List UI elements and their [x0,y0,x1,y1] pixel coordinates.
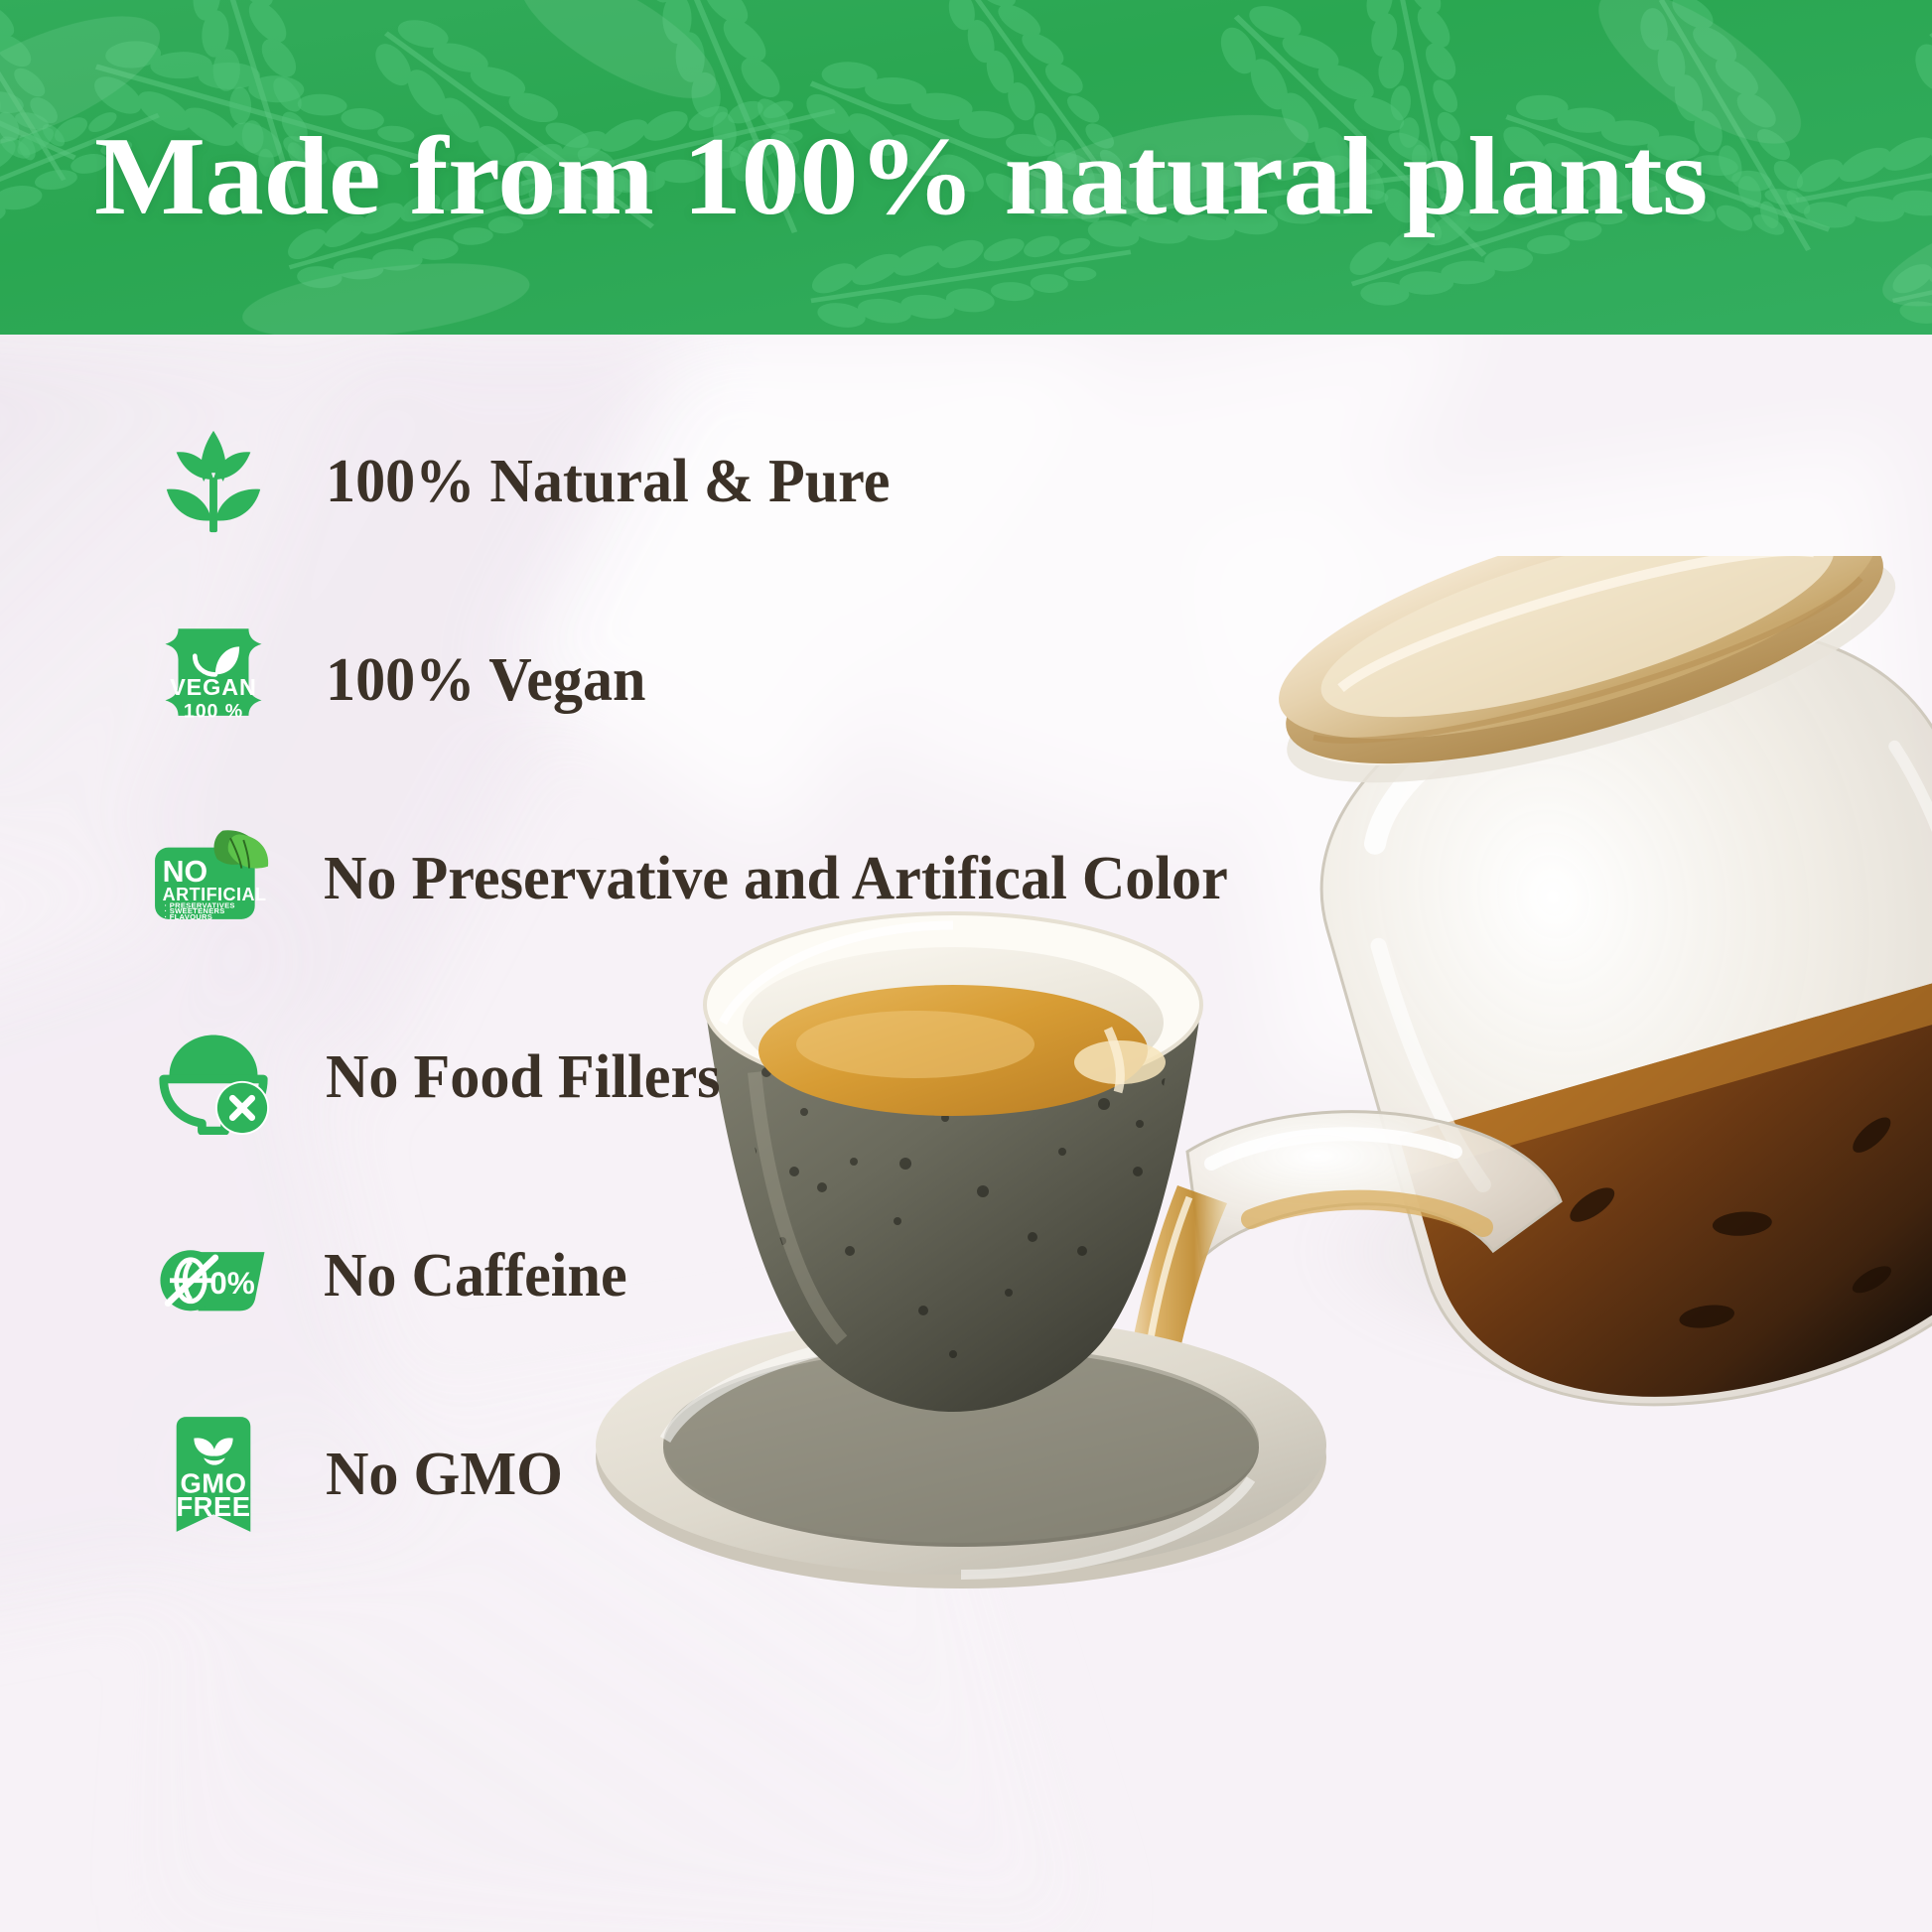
gmo-free-badge-icon: GMO FREE [149,1410,278,1539]
feature-label: No Caffeine [324,1243,627,1309]
plant-sprout-icon [149,417,278,546]
header-banner: Made from 100% natural plants [0,0,1932,335]
feature-label: 100% Vegan [326,647,645,713]
feature-row: No Food Fillers [149,1008,733,1147]
product-infographic: Made from 100% natural plants [0,0,1932,1932]
vegan-100-badge-icon: VEGAN 100 % [149,616,278,745]
feature-row: 100% Natural & Pure [149,412,907,551]
no-artificial-badge-icon: NO ARTIFICIAL · PRESERVATIVES · SWEETENE… [147,814,276,943]
page-title: Made from 100% natural plants [94,115,1932,238]
feature-row: VEGAN 100 % 100% Vegan [149,611,655,750]
feature-row: NO ARTIFICIAL · PRESERVATIVES · SWEETENE… [147,809,1256,948]
feature-row: 0% No Caffeine [147,1206,636,1345]
svg-text:0%: 0% [209,1265,255,1301]
no-caffeine-icon: 0% [147,1211,276,1340]
feature-row: GMO FREE No GMO [149,1405,570,1544]
svg-text:VEGAN: VEGAN [170,674,257,700]
feature-label: No Food Fillers [326,1044,721,1110]
svg-text:FREE: FREE [176,1491,250,1522]
svg-text:100 %: 100 % [184,700,243,722]
feature-label: No GMO [326,1442,563,1507]
feature-label: No Preservative and Artifical Color [324,846,1228,911]
feature-label: 100% Natural & Pure [326,449,890,514]
no-food-fillers-icon [149,1013,278,1142]
svg-text:· FLAVOURS: · FLAVOURS [165,912,213,921]
